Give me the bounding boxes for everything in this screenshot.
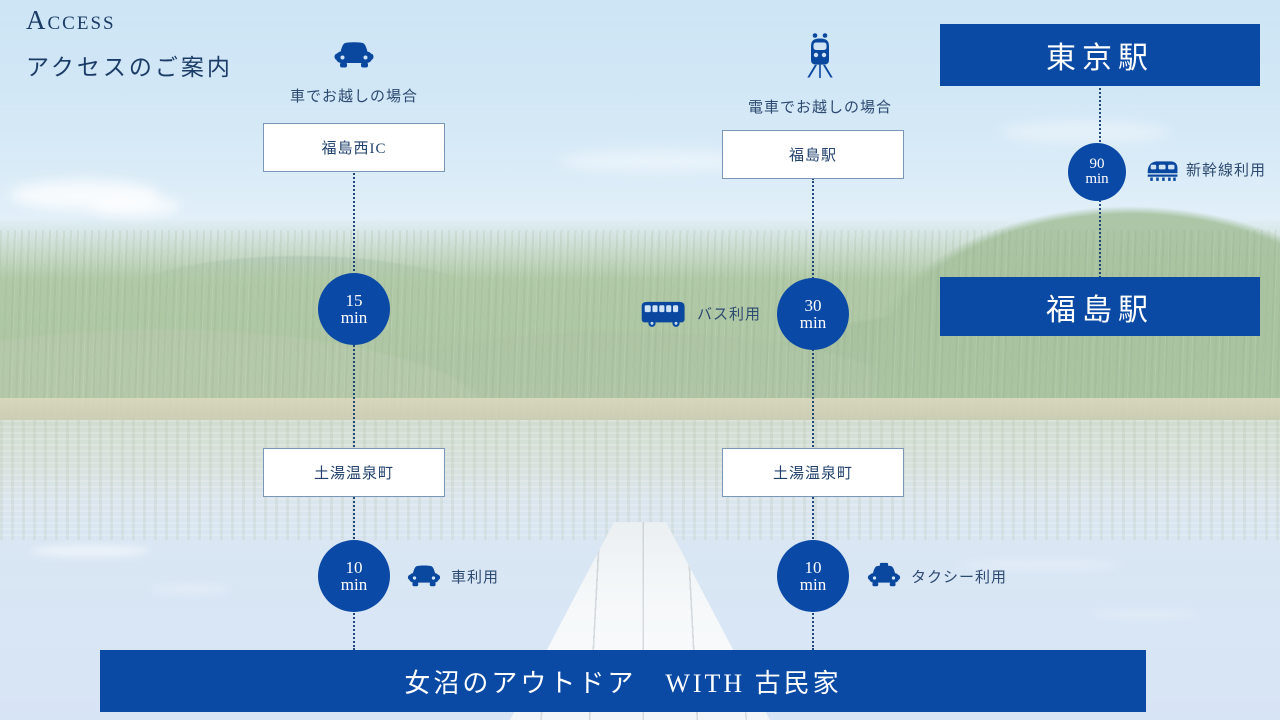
train-icon [803,32,837,85]
node-label: 福島駅 [789,144,837,165]
taxi-icon [866,562,902,590]
time-badge-10min-taxi: 10 min [777,540,849,612]
means-shinkansen: 新幹線利用 [1146,156,1266,182]
time-badge-10min-car: 10 min [318,540,390,612]
means-label: 車利用 [451,566,499,587]
means-label: タクシー利用 [911,566,1007,587]
time-value: 10 [346,559,363,576]
node-tsuchiyu-onsen-right[interactable]: 土湯温泉町 [722,448,904,497]
means-label: バス利用 [697,303,761,324]
mode-label-train: 電車でお越しの場合 [748,96,892,117]
shinkansen-icon [1146,156,1180,182]
node-label: 土湯温泉町 [773,462,853,483]
page-title-jp: アクセスのご案内 [26,48,233,82]
time-unit: min [341,576,367,593]
time-badge-15min: 15 min [318,273,390,345]
car-icon [406,562,442,590]
page-title-en: Access [26,5,116,36]
means-taxi: タクシー利用 [866,562,1007,590]
banner-tokyo-station[interactable]: 東京駅 [940,24,1260,86]
banner-fukushima-station[interactable]: 福島駅 [940,277,1260,336]
time-unit: min [800,314,826,331]
means-bus: バス利用 [640,298,761,328]
time-unit: min [1085,172,1108,187]
access-slide: Access アクセスのご案内 車でお越しの場合 福島西IC 15 min [0,0,1280,720]
means-car: 車利用 [406,562,499,590]
node-label: 福島西IC [321,137,386,158]
time-unit: min [341,309,367,326]
footer-banner[interactable]: 女沼のアウトドア WITH 古民家 [100,650,1146,712]
node-tsuchiyu-onsen-left[interactable]: 土湯温泉町 [263,448,445,497]
time-value: 15 [346,292,363,309]
means-label: 新幹線利用 [1186,159,1266,180]
mode-label-car: 車でお越しの場合 [290,85,418,106]
banner-label: 福島駅 [1046,285,1154,329]
node-label: 土湯温泉町 [314,462,394,483]
node-fukushima-station-mid[interactable]: 福島駅 [722,130,904,179]
banner-label: 東京駅 [1046,33,1154,77]
car-icon [333,38,375,77]
time-badge-30min: 30 min [777,278,849,350]
diagram-layer: Access アクセスのご案内 車でお越しの場合 福島西IC 15 min [0,0,1280,720]
node-fukushima-nishi-ic[interactable]: 福島西IC [263,123,445,172]
time-value: 10 [805,559,822,576]
bus-icon [640,298,688,328]
time-value: 30 [805,297,822,314]
footer-banner-label: 女沼のアウトドア WITH 古民家 [404,663,841,700]
time-value: 90 [1090,157,1105,172]
time-badge-90min: 90 min [1068,143,1126,201]
time-unit: min [800,576,826,593]
